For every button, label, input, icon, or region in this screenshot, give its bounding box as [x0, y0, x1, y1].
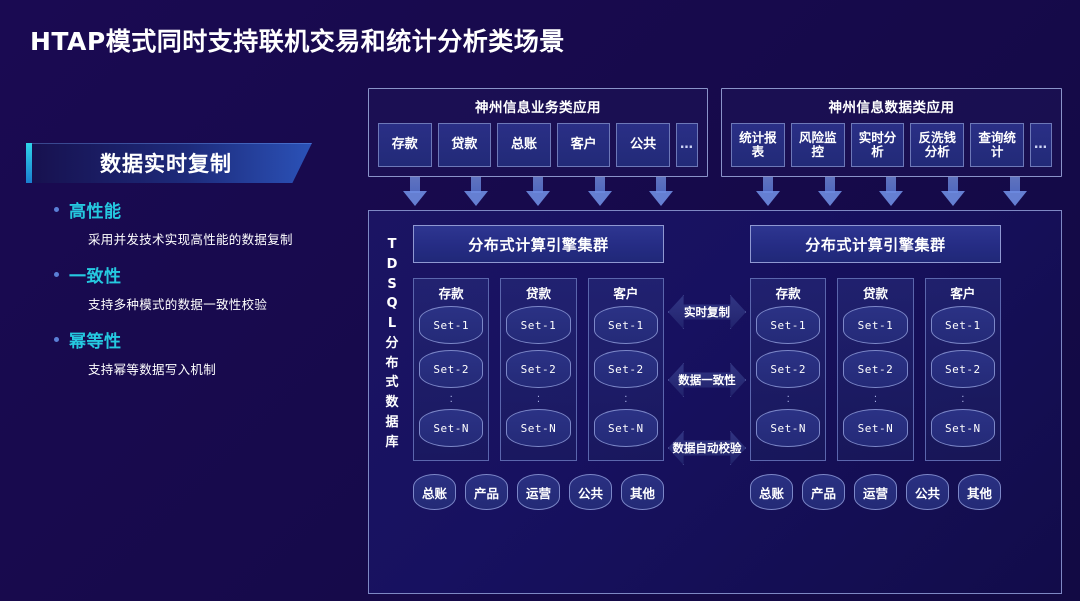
- compute-engine-cluster: 分布式计算引擎集群: [413, 225, 664, 263]
- app-item[interactable]: 总账: [497, 123, 551, 167]
- set-label: Set-N: [945, 422, 981, 435]
- application-box-title: 神州信息数据类应用: [731, 96, 1052, 116]
- bottom-node[interactable]: 总账: [750, 474, 793, 510]
- set-column-title: 贷款: [863, 283, 888, 302]
- set-label: Set-2: [521, 363, 557, 376]
- arrow-down-icon: [403, 177, 427, 207]
- feature-heading: 高性能: [26, 197, 356, 222]
- set-label: Set-N: [521, 422, 557, 435]
- set-node[interactable]: Set-1: [594, 306, 658, 344]
- set-label: Set-2: [608, 363, 644, 376]
- set-node[interactable]: Set-1: [756, 306, 820, 344]
- set-column-title: 客户: [613, 283, 638, 302]
- sync-arrow: 数据一致性: [668, 363, 746, 397]
- arrow-down-icon: [756, 177, 780, 207]
- set-column: 贷款 Set-1 Set-2 ·· Set-N: [837, 278, 913, 461]
- bottom-nodes-row: 总账 产品 运营 公共 其他: [750, 474, 1001, 510]
- flow-arrow-group: [721, 177, 1062, 207]
- set-label: Set-2: [433, 363, 469, 376]
- cluster-right: 分布式计算引擎集群 存款 Set-1 Set-2 ·· Set-N 贷款 Set…: [750, 225, 1001, 585]
- set-column: 客户 Set-1 Set-2 ·· Set-N: [588, 278, 664, 461]
- set-columns: 存款 Set-1 Set-2 ·· Set-N 贷款 Set-1 Set-2 ·…: [750, 278, 1001, 461]
- set-node[interactable]: Set-N: [756, 409, 820, 447]
- app-item[interactable]: 查询统计: [970, 123, 1024, 167]
- sync-arrow: 实时复制: [668, 295, 746, 329]
- app-item[interactable]: 贷款: [438, 123, 492, 167]
- set-label: Set-1: [608, 319, 644, 332]
- arrow-down-icon: [649, 177, 673, 207]
- app-item[interactable]: 风险监控: [791, 123, 845, 167]
- tdsql-char: 据: [385, 413, 398, 433]
- tdsql-char: 布: [385, 354, 398, 374]
- application-items: 统计报表 风险监控 实时分析 反洗钱分析 查询统计 …: [731, 123, 1052, 167]
- feature-item: 一致性 支持多种模式的数据一致性校验: [26, 262, 356, 313]
- bottom-nodes-row: 总账 产品 运营 公共 其他: [413, 474, 664, 510]
- arrow-down-icon: [526, 177, 550, 207]
- app-item[interactable]: 存款: [378, 123, 432, 167]
- sync-arrow-label: 实时复制: [684, 304, 730, 320]
- tdsql-vertical-label: T D S Q L 分 布 式 数 据 库: [379, 235, 405, 452]
- tdsql-char: 式: [385, 373, 398, 393]
- bottom-node[interactable]: 公共: [906, 474, 949, 510]
- set-label: Set-N: [608, 422, 644, 435]
- tdsql-char: 分: [385, 334, 398, 354]
- set-column-title: 存款: [776, 283, 801, 302]
- tdsql-char: T: [388, 235, 397, 255]
- bottom-node[interactable]: 其他: [621, 474, 664, 510]
- set-column-title: 客户: [950, 283, 975, 302]
- feature-item: 高性能 采用并发技术实现高性能的数据复制: [26, 197, 356, 248]
- tdsql-char: Q: [386, 294, 397, 314]
- set-label: Set-1: [945, 319, 981, 332]
- feature-item: 幂等性 支持幂等数据写入机制: [26, 327, 356, 378]
- bottom-node[interactable]: 运营: [854, 474, 897, 510]
- architecture-diagram: 神州信息业务类应用 存款 贷款 总账 客户 公共 … 神州信息数据类应用 统计报…: [368, 88, 1062, 580]
- set-node[interactable]: Set-2: [756, 350, 820, 388]
- sync-arrow-label: 数据一致性: [678, 372, 736, 388]
- banner-label: 数据实时复制: [26, 143, 306, 183]
- set-columns: 存款 Set-1 Set-2 ·· Set-N 贷款 Set-1 Set-2 ·…: [413, 278, 664, 461]
- tdsql-char: D: [387, 255, 398, 275]
- feature-heading: 一致性: [26, 262, 356, 287]
- slide-canvas: HTAP模式同时支持联机交易和统计分析类场景 数据实时复制 高性能 采用并发技术…: [0, 0, 1080, 601]
- bottom-node[interactable]: 公共: [569, 474, 612, 510]
- sync-arrows-column: 实时复制 数据一致性 数据自动校验: [664, 225, 750, 585]
- app-item[interactable]: 公共: [616, 123, 670, 167]
- application-boxes-row: 神州信息业务类应用 存款 贷款 总账 客户 公共 … 神州信息数据类应用 统计报…: [368, 88, 1062, 177]
- vertical-ellipsis-icon: ··: [537, 395, 540, 405]
- set-label: Set-1: [770, 319, 806, 332]
- set-node[interactable]: Set-N: [931, 409, 995, 447]
- set-node[interactable]: Set-1: [931, 306, 995, 344]
- app-item-more[interactable]: …: [1030, 123, 1052, 167]
- set-node[interactable]: Set-1: [843, 306, 907, 344]
- feature-title: 幂等性: [69, 327, 122, 352]
- arrow-down-icon: [818, 177, 842, 207]
- set-label: Set-1: [858, 319, 894, 332]
- sync-arrow-label: 数据自动校验: [673, 440, 742, 456]
- feature-description: 采用并发技术实现高性能的数据复制: [26, 229, 356, 248]
- set-column: 客户 Set-1 Set-2 ·· Set-N: [925, 278, 1001, 461]
- section-banner: 数据实时复制: [26, 143, 356, 183]
- arrow-down-icon: [879, 177, 903, 207]
- set-label: Set-N: [433, 422, 469, 435]
- set-node[interactable]: Set-2: [594, 350, 658, 388]
- left-panel: 数据实时复制 高性能 采用并发技术实现高性能的数据复制 一致性 支持多种模式的数…: [26, 143, 356, 378]
- set-node[interactable]: Set-2: [931, 350, 995, 388]
- set-label: Set-2: [770, 363, 806, 376]
- tdsql-panel: T D S Q L 分 布 式 数 据 库 分布式计算引擎集群 存款: [368, 210, 1062, 594]
- tdsql-char: 库: [385, 433, 398, 453]
- set-column: 存款 Set-1 Set-2 ·· Set-N: [413, 278, 489, 461]
- vertical-ellipsis-icon: ··: [624, 395, 627, 405]
- arrow-down-icon: [588, 177, 612, 207]
- sync-arrow: 数据自动校验: [668, 431, 746, 465]
- application-box-title: 神州信息业务类应用: [378, 96, 698, 116]
- flow-arrow-group: [368, 177, 708, 207]
- set-node[interactable]: Set-1: [506, 306, 570, 344]
- page-title: HTAP模式同时支持联机交易和统计分析类场景: [30, 22, 565, 58]
- set-node[interactable]: Set-N: [594, 409, 658, 447]
- bottom-node[interactable]: 其他: [958, 474, 1001, 510]
- set-node[interactable]: Set-2: [506, 350, 570, 388]
- set-label: Set-N: [858, 422, 894, 435]
- bottom-node[interactable]: 产品: [802, 474, 845, 510]
- arrow-down-icon: [941, 177, 965, 207]
- set-label: Set-2: [858, 363, 894, 376]
- feature-title: 高性能: [69, 197, 122, 222]
- tdsql-char: 数: [385, 393, 398, 413]
- set-column-title: 存款: [439, 283, 464, 302]
- app-item[interactable]: 统计报表: [731, 123, 785, 167]
- set-node[interactable]: Set-N: [419, 409, 483, 447]
- tdsql-char: S: [387, 275, 396, 295]
- app-item-more[interactable]: …: [676, 123, 698, 167]
- compute-engine-cluster: 分布式计算引擎集群: [750, 225, 1001, 263]
- set-label: Set-N: [770, 422, 806, 435]
- application-box-data: 神州信息数据类应用 统计报表 风险监控 实时分析 反洗钱分析 查询统计 …: [721, 88, 1062, 177]
- feature-title: 一致性: [69, 262, 122, 287]
- arrow-down-icon: [1003, 177, 1027, 207]
- application-box-business: 神州信息业务类应用 存款 贷款 总账 客户 公共 …: [368, 88, 708, 177]
- app-item[interactable]: 实时分析: [851, 123, 905, 167]
- vertical-ellipsis-icon: ··: [874, 395, 877, 405]
- bullet-dot-icon: [54, 207, 59, 212]
- vertical-ellipsis-icon: ··: [787, 395, 790, 405]
- bullet-dot-icon: [54, 272, 59, 277]
- set-node[interactable]: Set-2: [843, 350, 907, 388]
- cluster-left: 分布式计算引擎集群 存款 Set-1 Set-2 ·· Set-N 贷款 Set…: [413, 225, 664, 585]
- clusters-wrapper: 分布式计算引擎集群 存款 Set-1 Set-2 ·· Set-N 贷款 Set…: [413, 225, 1053, 585]
- feature-heading: 幂等性: [26, 327, 356, 352]
- set-node[interactable]: Set-2: [419, 350, 483, 388]
- set-column: 存款 Set-1 Set-2 ·· Set-N: [750, 278, 826, 461]
- vertical-ellipsis-icon: ··: [450, 395, 453, 405]
- set-label: Set-1: [433, 319, 469, 332]
- arrow-down-icon: [464, 177, 488, 207]
- feature-description: 支持多种模式的数据一致性校验: [26, 294, 356, 313]
- set-node[interactable]: Set-N: [843, 409, 907, 447]
- set-node[interactable]: Set-N: [506, 409, 570, 447]
- vertical-ellipsis-icon: ··: [961, 395, 964, 405]
- set-label: Set-1: [521, 319, 557, 332]
- flow-arrows-row: [368, 177, 1062, 207]
- set-column-title: 贷款: [526, 283, 551, 302]
- bullet-dot-icon: [54, 337, 59, 342]
- app-item[interactable]: 客户: [557, 123, 611, 167]
- application-items: 存款 贷款 总账 客户 公共 …: [378, 123, 698, 167]
- app-item[interactable]: 反洗钱分析: [910, 123, 964, 167]
- tdsql-char: L: [388, 314, 396, 334]
- set-column: 贷款 Set-1 Set-2 ·· Set-N: [500, 278, 576, 461]
- set-node[interactable]: Set-1: [419, 306, 483, 344]
- set-label: Set-2: [945, 363, 981, 376]
- bottom-node[interactable]: 产品: [465, 474, 508, 510]
- bottom-node[interactable]: 总账: [413, 474, 456, 510]
- feature-description: 支持幂等数据写入机制: [26, 359, 356, 378]
- bottom-node[interactable]: 运营: [517, 474, 560, 510]
